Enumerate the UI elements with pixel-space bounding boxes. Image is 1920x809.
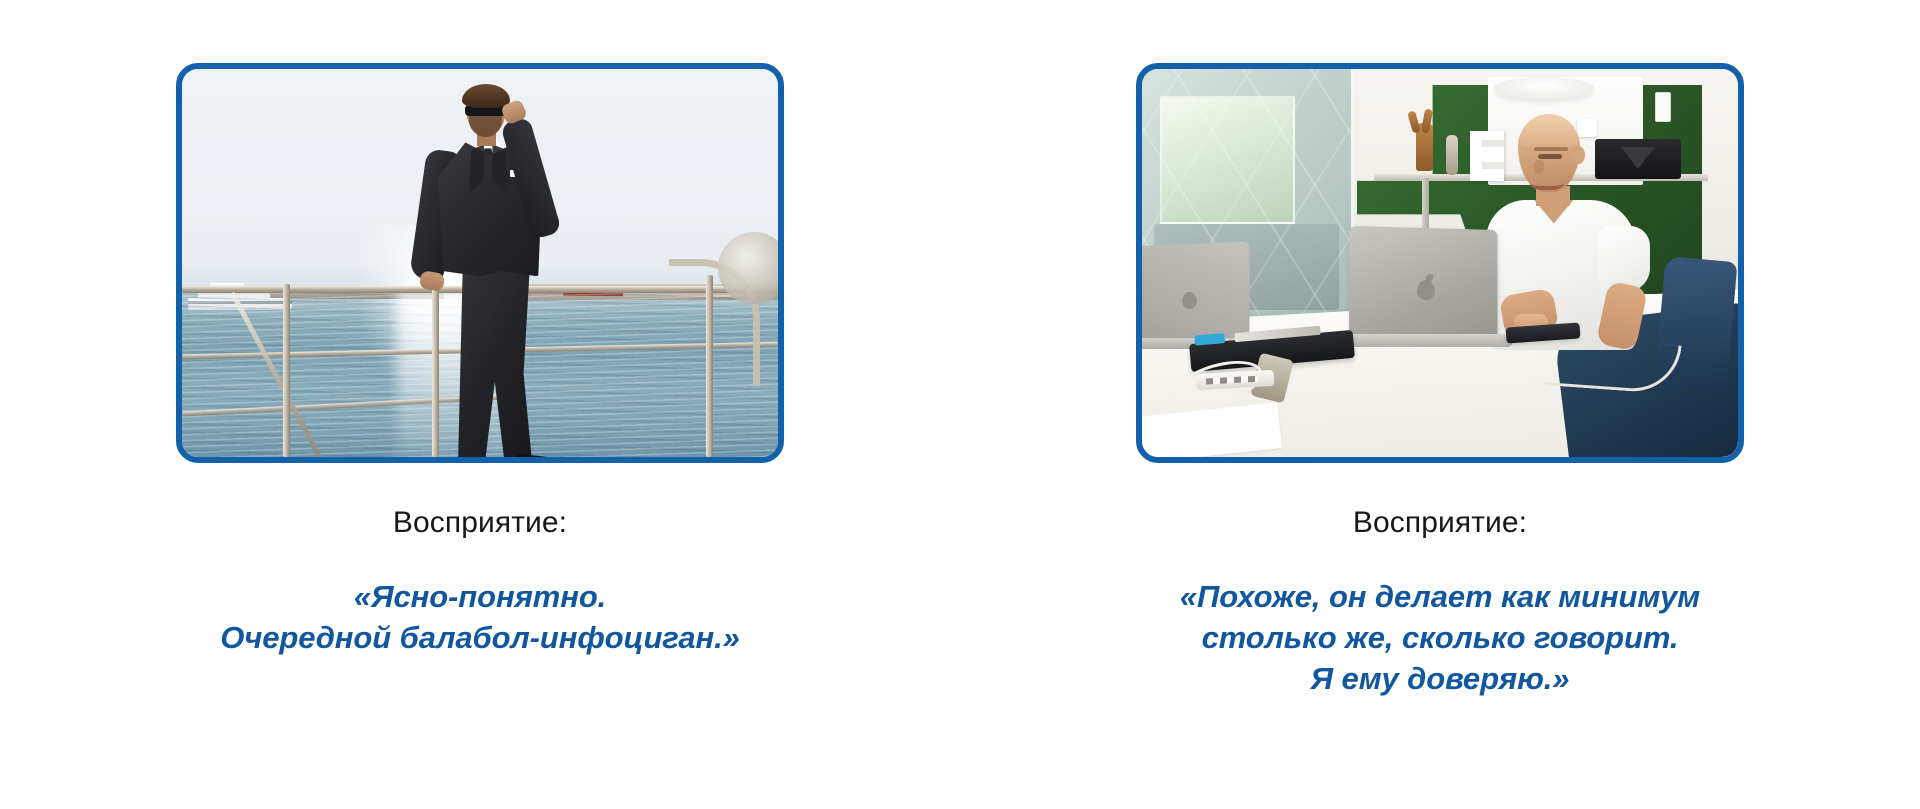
- column-right: Восприятие: «Похоже, он делает как миним…: [960, 0, 1920, 809]
- perception-quote-right: «Похоже, он делает как минимум столько ж…: [1180, 577, 1700, 700]
- wall-outlet-icon: [1655, 92, 1671, 122]
- columns-container: Восприятие: «Ясно-понятно. Очередной бал…: [0, 0, 1920, 809]
- apple-logo-icon: [1417, 280, 1435, 300]
- photo-right: [1142, 69, 1738, 457]
- eyebrow: [1534, 147, 1568, 151]
- laptop-lid: [1142, 241, 1250, 344]
- perception-quote-left: «Ясно-понятно. Очередной балабол-инфоциг…: [220, 577, 739, 659]
- shelf-figurine: [1446, 135, 1458, 175]
- beard: [469, 116, 502, 137]
- wooden-hand-decoration: [1416, 123, 1433, 171]
- perception-label-right: Восприятие:: [1353, 505, 1527, 541]
- apple-logo-icon: [1182, 292, 1197, 309]
- railing-post: [283, 284, 290, 457]
- nose: [1534, 160, 1544, 174]
- ear: [1572, 146, 1585, 164]
- suit-trousers: [456, 264, 536, 457]
- shelf-leg: [1422, 178, 1429, 232]
- bald-scalp: [1520, 114, 1578, 148]
- comparison-slide: Восприятие: «Ясно-понятно. Очередной бал…: [0, 0, 1920, 809]
- column-left: Восприятие: «Ясно-понятно. Очередной бал…: [0, 0, 960, 809]
- macbook-laptop-front: [1351, 228, 1501, 353]
- laptop-base: [1345, 334, 1513, 347]
- pendant-lamp-icon: [1494, 77, 1594, 99]
- perception-label-left: Восприятие:: [393, 505, 567, 541]
- suit-shoe: [516, 454, 561, 457]
- photo-card-right[interactable]: [1136, 63, 1744, 463]
- tshirt-sleeve: [1598, 226, 1650, 292]
- laptop-lid: [1349, 226, 1497, 342]
- eye: [1538, 154, 1562, 159]
- photo-card-left[interactable]: [176, 63, 784, 463]
- photo-left: [182, 69, 778, 457]
- man-in-suit-figure: [420, 88, 570, 457]
- smile: [1530, 174, 1564, 190]
